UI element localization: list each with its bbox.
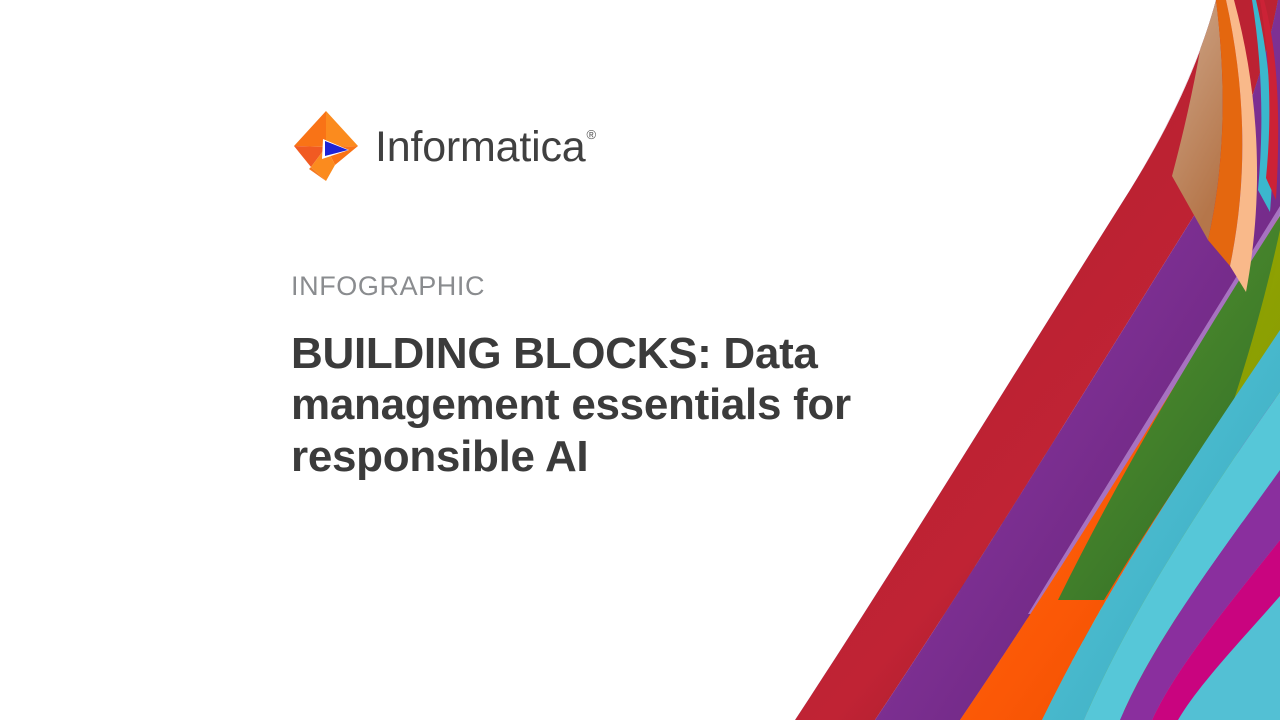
informatica-diamond-logo-icon — [291, 109, 361, 183]
svg-text:1 1 1 0 0 1 1: 1 1 1 0 0 1 1 — [946, 608, 1280, 720]
informatica-logo-lockup[interactable]: Informatica® — [291, 108, 595, 184]
svg-text:1 1 1 0 0 0 1: 1 1 1 0 0 0 1 — [910, 438, 1280, 584]
informatica-wordmark: Informatica® — [375, 126, 595, 169]
svg-text:1 1 1: 1 1 1 — [985, 601, 1189, 689]
page-title: BUILDING BLOCKS: Data management essenti… — [291, 328, 916, 482]
registered-trademark-symbol: ® — [587, 127, 596, 142]
svg-text:0 1 1 0 1 1: 0 1 1 0 1 1 — [912, 391, 1280, 521]
logo-mark-svg — [291, 109, 361, 183]
wordmark-text: Informatica — [375, 123, 586, 171]
svg-text:1 1 0 0: 1 1 0 0 — [1001, 519, 1280, 624]
svg-text:1 1 1 1: 1 1 1 1 — [1035, 271, 1280, 370]
svg-text:0 1 1 0 0: 0 1 1 0 0 — [931, 341, 1250, 455]
title-text-block: INFOGRAPHIC BUILDING BLOCKS: Data manage… — [291, 272, 931, 482]
slide-canvas: 1 1 1 1 1 1 0 1 1 0 0 0 1 1 0 1 1 1 1 1 … — [0, 0, 1280, 720]
svg-text:1 1: 1 1 — [955, 267, 1072, 335]
eyebrow-label: INFOGRAPHIC — [291, 272, 931, 302]
